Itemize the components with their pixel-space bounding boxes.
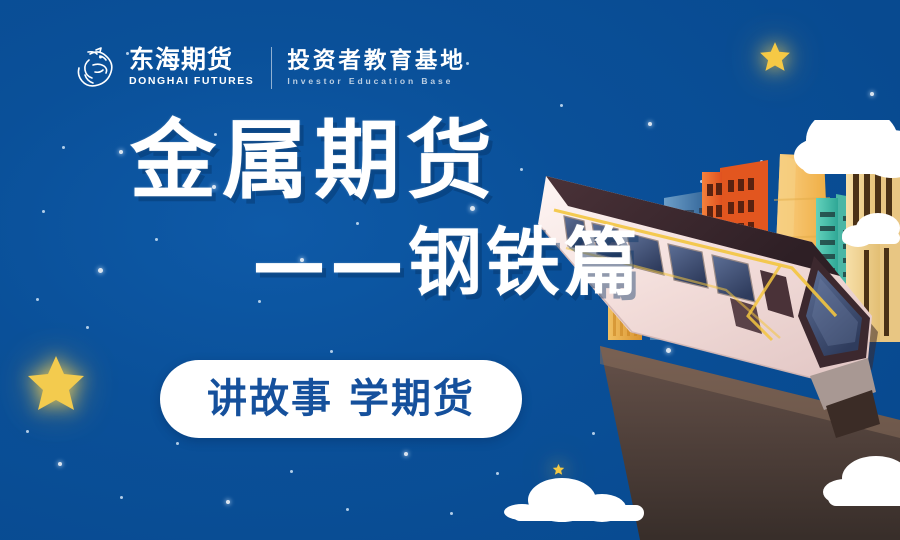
star-dot: [26, 430, 29, 433]
logo-divider: [271, 47, 272, 89]
star-dot: [560, 104, 563, 107]
division-name-cn: 投资者教育基地: [287, 49, 466, 73]
poster-canvas: 东海期货 DONGHAI FUTURES 投资者教育基地 Investor Ed…: [0, 0, 900, 540]
brand-primary-block: 东海期货 DONGHAI FUTURES: [129, 45, 254, 91]
company-name-cn: 东海期货: [129, 47, 254, 73]
brand-logo[interactable]: 东海期货 DONGHAI FUTURES 投资者教育基地 Investor Ed…: [76, 42, 466, 94]
glow-star-bottom-left: [24, 352, 88, 416]
star-dot: [86, 326, 89, 329]
brand-division-block: 投资者教育基地 Investor Education Base: [287, 45, 466, 91]
star-dot: [226, 500, 230, 504]
star-dot: [58, 462, 62, 466]
tagline-pill[interactable]: 讲故事 学期货: [160, 360, 522, 438]
company-name-en: DONGHAI FUTURES: [129, 75, 254, 89]
star-dot: [870, 92, 874, 96]
star-dot: [346, 508, 349, 511]
cloud-right-upper-shape: [794, 120, 900, 178]
star-dot: [176, 442, 179, 445]
star-dot: [120, 496, 123, 499]
headline-sub: ——钢铁篇: [252, 226, 690, 300]
star-dot: [404, 452, 408, 456]
headline-main: 金属期货: [130, 118, 690, 204]
star-dot: [466, 62, 469, 65]
star-dot: [290, 470, 293, 473]
division-name-en: Investor Education Base: [287, 76, 466, 87]
donghai-dragon-emblem-icon: [76, 45, 120, 91]
glow-star-top-right: [758, 40, 792, 74]
star-dot: [330, 350, 333, 353]
tagline-pill-label: 讲故事 学期货: [207, 379, 475, 419]
star-dot: [450, 512, 453, 515]
headline-block: 金属期货 ——钢铁篇: [0, 118, 690, 300]
